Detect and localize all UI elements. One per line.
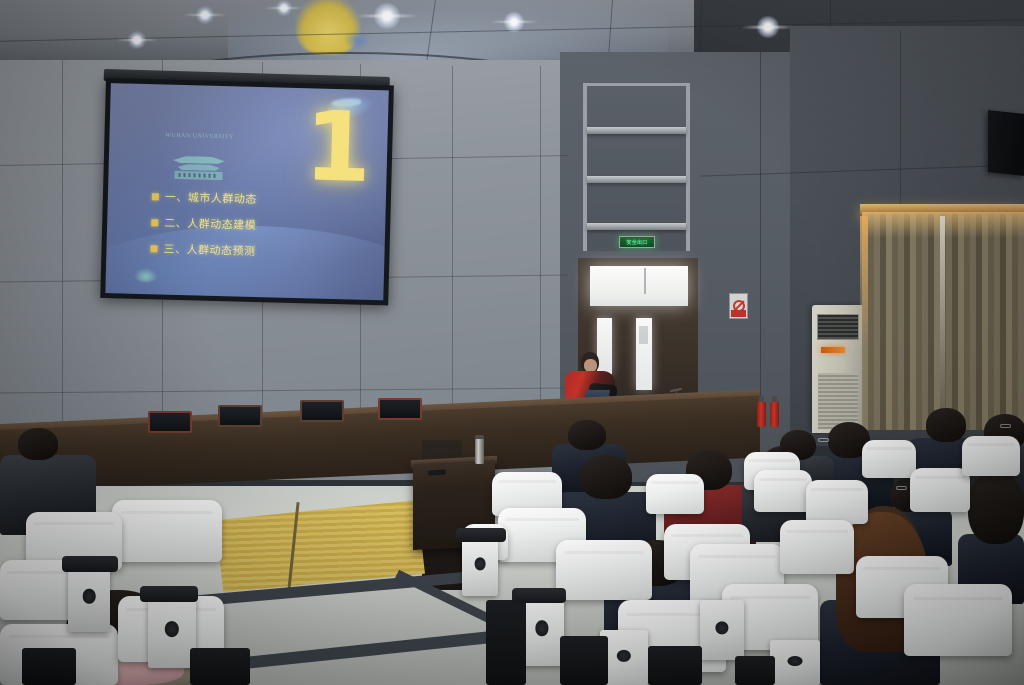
seat-emblem-icon [83,589,96,604]
seat-headrest-cover[interactable] [962,436,1020,476]
seat-base[interactable] [486,600,526,685]
logo-roof-lower [178,164,220,171]
seat-emblem-icon [475,557,486,570]
seat-headrest-cover[interactable] [862,440,916,478]
fire-extinguisher [770,401,779,427]
transom-window [590,266,688,306]
seat-side-panel[interactable] [520,596,564,666]
no-smoking-label-bar [731,310,746,317]
seat-side-panel[interactable] [700,600,744,660]
seat-side-panel[interactable] [462,536,498,596]
ceiling-downlight [276,0,292,16]
air-conditioner-unit [812,305,864,433]
seat-armrest[interactable] [512,588,566,603]
slide-bullet-text: 三、人群动态预测 [163,241,255,259]
university-logo-building [172,151,225,180]
attendee-suit-left-head [18,428,58,460]
wall-panel-line [760,52,761,412]
ceiling-downlight [128,31,146,49]
slide-leaf-graphic [134,268,158,283]
seat-armrest[interactable] [456,528,506,542]
wall-speaker [988,110,1024,176]
seat-emblem-icon [715,621,728,634]
seat-side-panel[interactable] [148,596,196,668]
seat-headrest-cover[interactable] [556,540,652,600]
seat-armrest[interactable] [62,556,118,572]
seat-headrest-cover[interactable] [904,584,1012,656]
eyeglasses-icon [818,438,829,442]
wall-panel-line [540,66,541,422]
seat-headrest-cover[interactable] [112,500,222,562]
slide-bullet-item: 三、人群动态预测 [150,240,255,259]
fire-extinguisher [757,401,766,427]
seat-headrest-cover[interactable] [780,520,854,574]
ac-top-vent [817,314,859,340]
stage-vent-box [218,405,262,427]
seat-side-panel[interactable] [770,640,820,685]
eyeglasses-icon [896,486,907,490]
logo-roof-upper [173,156,225,164]
transom-mullion [644,268,646,294]
seat-headrest-cover[interactable] [646,474,704,514]
slide-bullet-text: 二、人群动态建模 [164,215,256,233]
projection-screen-frame: 1 WUHAN UNIVERSITY 一、城市人群动态二、人群动态建模三、人群动… [100,78,394,305]
eyeglasses-icon [1000,424,1011,428]
slide-bullet-text: 一、城市人群动态 [165,189,257,207]
vacuum-flask [475,438,484,464]
shelf-ledge [587,223,686,230]
square-bullet-icon [151,219,158,226]
seat-headrest-cover[interactable] [754,470,812,512]
logo-base [174,171,222,180]
square-bullet-icon [150,245,157,252]
emergency-exit-sign: 安全出口 [619,236,655,248]
wall-niche-shelving [583,83,690,251]
seat-base[interactable] [190,648,250,685]
seat-base[interactable] [648,646,702,685]
wall-panel-line [900,30,901,210]
seat-headrest-cover[interactable] [806,480,868,524]
attendee-right-3-head [926,408,966,442]
university-logo: WUHAN UNIVERSITY [160,132,237,180]
ceiling-downlight [374,3,400,29]
projection-screen: 1 WUHAN UNIVERSITY 一、城市人群动态二、人群动态建模三、人群动… [105,83,388,300]
seat-emblem-icon [788,656,803,666]
seat-emblem-icon [165,621,179,637]
attendee-right-far-head [968,470,1024,544]
ceiling-downlight [196,6,214,24]
curtain-edge-glow [860,216,868,346]
square-bullet-icon [152,193,159,200]
exit-sign-label: 安全出口 [626,239,647,246]
seat-base[interactable] [560,636,608,685]
ac-bottom-grille [818,373,858,429]
no-smoking-sign [729,293,748,319]
shelf-ledge [587,176,686,183]
curtain-light-gap [940,216,945,416]
attendee-center-1-head [580,455,632,499]
ceiling-downlight [757,16,779,38]
seat-side-panel[interactable] [68,566,110,632]
shelf-ledge [587,127,686,134]
wall-panel-line [452,66,453,426]
seat-base[interactable] [735,656,775,685]
slide-bullet-item: 一、城市人群动态 [152,188,257,207]
seat-emblem-icon [535,620,548,635]
door-glass-right [636,318,652,390]
stage-vent-box [378,398,422,420]
slide-bullet-list: 一、城市人群动态二、人群动态建模三、人群动态预测 [150,188,257,269]
ceiling-downlight [504,12,524,32]
slide-bullet-item: 二、人群动态建模 [151,214,256,233]
seat-emblem-icon [617,650,631,662]
lecture-hall-photo: 1 WUHAN UNIVERSITY 一、城市人群动态二、人群动态建模三、人群动… [0,0,1024,685]
seat-headrest-cover[interactable] [910,468,970,512]
slide-number: 1 [303,104,372,190]
stage-vent-box [148,411,192,433]
attendee-front-row-1-head [568,420,606,450]
ac-display-panel [821,347,845,353]
stage-vent-box [300,400,344,422]
seat-base[interactable] [22,648,76,685]
seat-armrest[interactable] [140,586,198,602]
